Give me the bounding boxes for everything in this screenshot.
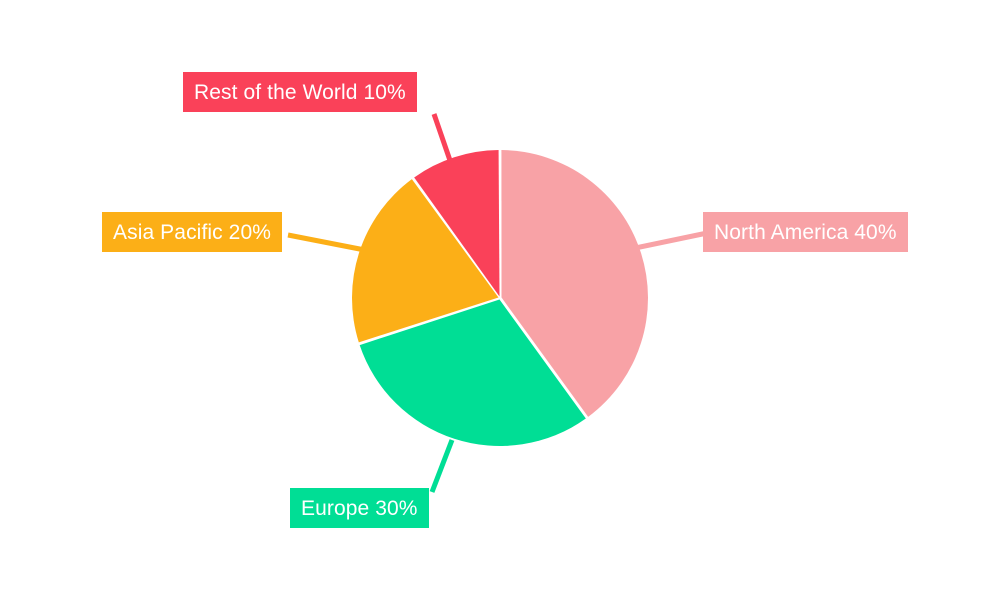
pie-label-north-america[interactable]: North America 40% xyxy=(703,212,908,252)
chart-canvas: North America 40% Europe 30% Asia Pacifi… xyxy=(0,0,1000,600)
pie-label-asia-pacific[interactable]: Asia Pacific 20% xyxy=(102,212,282,252)
pie-label-north-america-text: North America 40% xyxy=(714,222,897,243)
pie-slices xyxy=(352,150,648,446)
pie-label-rest-of-the-world-text: Rest of the World 10% xyxy=(194,82,406,103)
pie-label-rest-of-the-world[interactable]: Rest of the World 10% xyxy=(183,72,417,112)
pie-label-asia-pacific-text: Asia Pacific 20% xyxy=(113,222,271,243)
pie-chart xyxy=(0,0,1000,600)
pie-label-europe-text: Europe 30% xyxy=(301,498,418,519)
leader-line-europe xyxy=(432,440,452,492)
pie-label-europe[interactable]: Europe 30% xyxy=(290,488,429,528)
